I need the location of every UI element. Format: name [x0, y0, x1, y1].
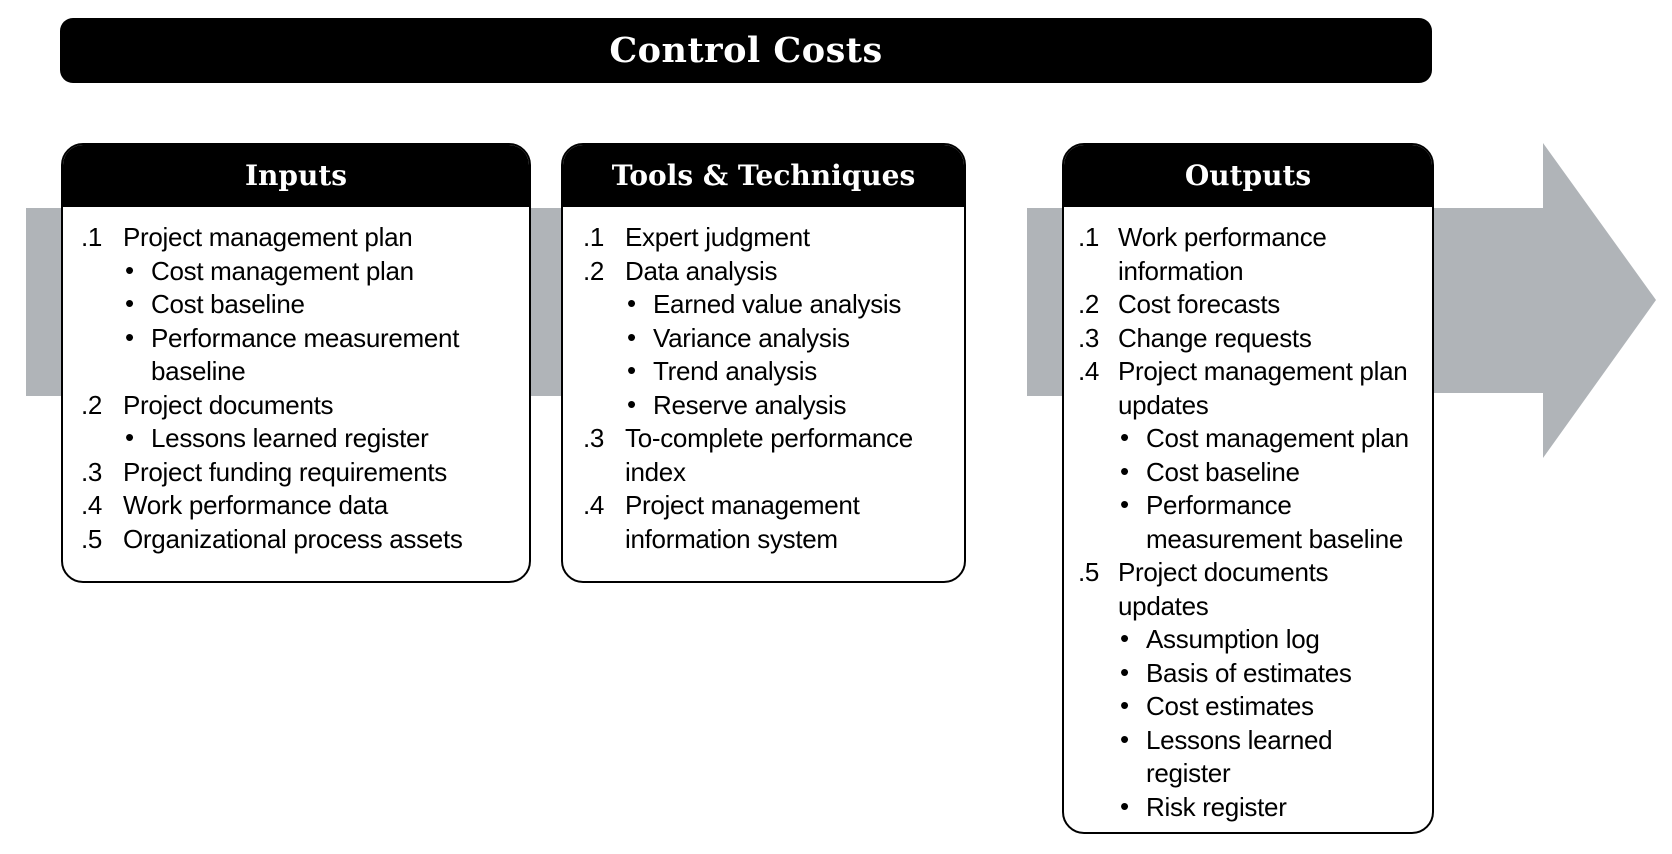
sub-item-label: Cost management plan	[1146, 423, 1409, 453]
bullet-icon: •	[125, 254, 134, 288]
sub-list: • Cost management plan • Cost baseline •…	[1118, 422, 1422, 556]
sub-list-item: • Performance measurement baseline	[1118, 489, 1422, 556]
item-label: Project management information system	[625, 490, 860, 554]
column-outputs-title: Outputs	[1185, 159, 1311, 192]
column-tools-header: Tools & Techniques	[562, 144, 965, 207]
sub-list-item: • Cost estimates	[1118, 690, 1422, 724]
list-item: .3 To-complete performance index	[583, 422, 954, 489]
item-label: Work performance information	[1118, 222, 1327, 286]
sub-item-label: Lessons learned register	[1146, 725, 1332, 789]
process-title: Control Costs	[609, 30, 882, 71]
column-tools-title: Tools & Techniques	[612, 159, 916, 192]
bullet-icon: •	[627, 354, 636, 388]
item-label: Data analysis	[625, 256, 777, 286]
process-title-bar: Control Costs	[60, 18, 1432, 83]
item-number: .4	[583, 489, 617, 523]
sub-item-label: Cost management plan	[151, 256, 414, 286]
bullet-icon: •	[125, 321, 134, 355]
item-number: .3	[583, 422, 617, 456]
list-item: .1 Expert judgment	[583, 221, 954, 255]
item-label: Expert judgment	[625, 222, 810, 252]
sub-list-item: • Assumption log	[1118, 623, 1422, 657]
connector-bar-inputs-tools	[529, 208, 563, 396]
outputs-list: .1 Work performance information .2 Cost …	[1078, 221, 1422, 824]
connector-bar-left	[26, 208, 63, 396]
column-outputs-body: .1 Work performance information .2 Cost …	[1064, 207, 1432, 824]
sub-list-item: • Variance analysis	[625, 322, 954, 356]
item-label: Project documents	[123, 390, 333, 420]
sub-item-label: Reserve analysis	[653, 390, 846, 420]
item-number: .2	[1078, 288, 1112, 322]
item-number: .4	[81, 489, 115, 523]
sub-list-item: • Lessons learned register	[123, 422, 519, 456]
sub-item-label: Trend analysis	[653, 356, 817, 386]
sub-item-label: Variance analysis	[653, 323, 850, 353]
bullet-icon: •	[1120, 656, 1129, 690]
item-number: .5	[81, 523, 115, 557]
item-label: Change requests	[1118, 323, 1312, 353]
sub-list-item: • Basis of estimates	[1118, 657, 1422, 691]
sub-list-item: • Lessons learned register	[1118, 724, 1422, 791]
sub-item-label: Performance measurement baseline	[151, 323, 459, 387]
item-number: .5	[1078, 556, 1112, 590]
item-label: To-complete performance index	[625, 423, 913, 487]
bullet-icon: •	[125, 421, 134, 455]
sub-item-label: Cost estimates	[1146, 691, 1314, 721]
list-item: .5 Organizational process assets	[81, 523, 519, 557]
sub-item-label: Earned value analysis	[653, 289, 901, 319]
item-label: Work performance data	[123, 490, 388, 520]
connector-bar-tools-outputs	[1027, 208, 1063, 396]
column-tools-body: .1 Expert judgment .2 Data analysis • Ea…	[563, 207, 964, 556]
list-item: .3 Change requests	[1078, 322, 1422, 356]
sub-list: • Cost management plan • Cost baseline •…	[123, 255, 519, 389]
bullet-icon: •	[1120, 488, 1129, 522]
bullet-icon: •	[627, 321, 636, 355]
sub-item-label: Risk register	[1146, 792, 1287, 822]
bullet-icon: •	[1120, 790, 1129, 824]
sub-list-item: • Reserve analysis	[625, 389, 954, 423]
sub-item-label: Assumption log	[1146, 624, 1320, 654]
bullet-icon: •	[1120, 622, 1129, 656]
item-number: .1	[1078, 221, 1112, 255]
item-label: Organizational process assets	[123, 524, 463, 554]
item-label: Project documents updates	[1118, 557, 1328, 621]
process-flow-arrow-icon	[1428, 143, 1656, 458]
item-number: .3	[1078, 322, 1112, 356]
bullet-icon: •	[627, 287, 636, 321]
item-number: .2	[583, 255, 617, 289]
item-number: .1	[81, 221, 115, 255]
sub-list-item: • Cost management plan	[123, 255, 519, 289]
bullet-icon: •	[125, 287, 134, 321]
list-item: .1 Work performance information	[1078, 221, 1422, 288]
bullet-icon: •	[1120, 455, 1129, 489]
sub-item-label: Basis of estimates	[1146, 658, 1352, 688]
item-number: .3	[81, 456, 115, 490]
bullet-icon: •	[627, 388, 636, 422]
list-item: .2 Cost forecasts	[1078, 288, 1422, 322]
column-outputs: Outputs .1 Work performance information …	[1062, 143, 1434, 834]
item-label: Project management plan	[123, 222, 412, 252]
sub-list: • Earned value analysis • Variance analy…	[625, 288, 954, 422]
sub-list-item: • Earned value analysis	[625, 288, 954, 322]
sub-list-item: • Trend analysis	[625, 355, 954, 389]
list-item: .3 Project funding requirements	[81, 456, 519, 490]
sub-list-item: • Performance measurement baseline	[123, 322, 519, 389]
column-inputs-title: Inputs	[245, 159, 347, 192]
column-tools-techniques: Tools & Techniques .1 Expert judgment .2…	[561, 143, 966, 583]
list-item: .5 Project documents updates • Assumptio…	[1078, 556, 1422, 824]
column-outputs-header: Outputs	[1063, 144, 1433, 207]
sub-list: • Assumption log • Basis of estimates • …	[1118, 623, 1422, 824]
bullet-icon: •	[1120, 689, 1129, 723]
tools-list: .1 Expert judgment .2 Data analysis • Ea…	[583, 221, 954, 556]
process-diagram: Control Costs Inputs .1 Project manageme…	[0, 0, 1672, 854]
list-item: .4 Project management plan updates • Cos…	[1078, 355, 1422, 556]
sub-item-label: Performance measurement baseline	[1146, 490, 1403, 554]
item-label: Project funding requirements	[123, 457, 447, 487]
list-item: .4 Project management information system	[583, 489, 954, 556]
bullet-icon: •	[1120, 421, 1129, 455]
column-inputs-body: .1 Project management plan • Cost manage…	[63, 207, 529, 556]
list-item: .1 Project management plan • Cost manage…	[81, 221, 519, 389]
item-label: Cost forecasts	[1118, 289, 1280, 319]
sub-item-label: Cost baseline	[1146, 457, 1300, 487]
sub-list-item: • Cost baseline	[1118, 456, 1422, 490]
column-inputs-header: Inputs	[62, 144, 530, 207]
sub-item-label: Lessons learned register	[151, 423, 429, 453]
list-item: .4 Work performance data	[81, 489, 519, 523]
item-number: .2	[81, 389, 115, 423]
inputs-list: .1 Project management plan • Cost manage…	[81, 221, 519, 556]
item-number: .1	[583, 221, 617, 255]
sub-list: • Lessons learned register	[123, 422, 519, 456]
item-number: .4	[1078, 355, 1112, 389]
bullet-icon: •	[1120, 723, 1129, 757]
sub-list-item: • Risk register	[1118, 791, 1422, 825]
column-inputs: Inputs .1 Project management plan • Cost…	[61, 143, 531, 583]
item-label: Project management plan updates	[1118, 356, 1407, 420]
sub-list-item: • Cost management plan	[1118, 422, 1422, 456]
list-item: .2 Project documents • Lessons learned r…	[81, 389, 519, 456]
sub-list-item: • Cost baseline	[123, 288, 519, 322]
sub-item-label: Cost baseline	[151, 289, 305, 319]
list-item: .2 Data analysis • Earned value analysis…	[583, 255, 954, 423]
